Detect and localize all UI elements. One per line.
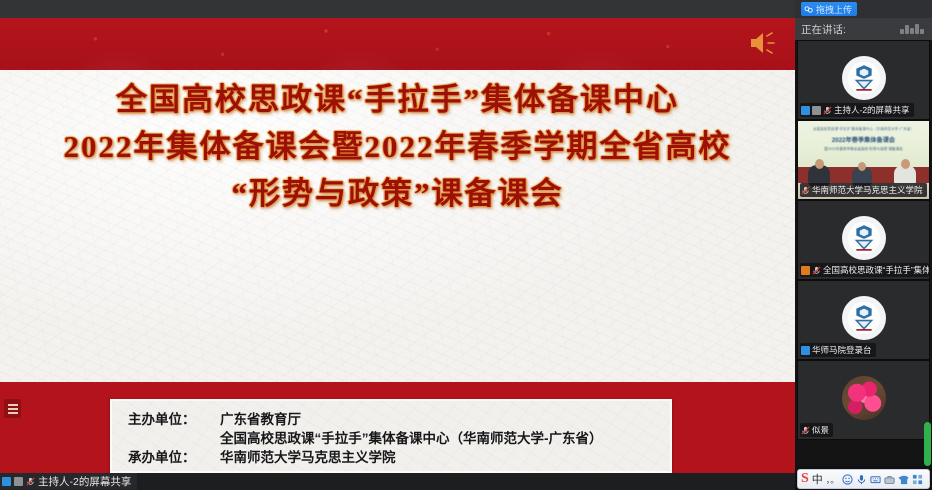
- slide-red-banner: [0, 18, 795, 70]
- avatar: [842, 376, 886, 420]
- slide-title-line-2: 2022年集体备课会暨2022年春季学期全省高校: [0, 123, 795, 170]
- slide-title-line-3: “形势与政策”课备课会: [0, 170, 795, 217]
- upload-button[interactable]: 拖拽上传: [801, 2, 857, 16]
- tile-label-text: 主持人-2的屏幕共享: [834, 104, 910, 116]
- slide-title-block: 全国高校思政课“手拉手”集体备课中心 2022年集体备课会暨2022年春季学期全…: [0, 76, 795, 217]
- mic-muted-icon: [812, 266, 821, 275]
- panel-header: 拖拽上传: [795, 0, 932, 18]
- share-status-badge: 主持人-2的屏幕共享: [0, 473, 137, 490]
- organizer-row: 承办单位： 华南师范大学马克思主义学院: [128, 448, 670, 467]
- presentation-slide: 全国高校思政课“手拉手”集体备课中心 2022年集体备课会暨2022年春季学期全…: [0, 18, 795, 473]
- screen-share-icon: [812, 106, 821, 115]
- organizer-info-box: 主办单位： 广东省教育厅 全国高校思政课“手拉手”集体备课中心（华南师范大学-广…: [110, 399, 672, 473]
- participant-tile[interactable]: 华师马院登录台: [797, 280, 930, 360]
- share-topbar: [0, 0, 795, 18]
- participant-tile[interactable]: 全国高校思政课“手拉手”集体备课中心（华南师范大学-广东省） 2022年春季集体…: [797, 120, 930, 200]
- keyboard-icon[interactable]: [870, 474, 881, 485]
- shared-screen-area[interactable]: 全国高校思政课“手拉手”集体备课中心 2022年集体备课会暨2022年春季学期全…: [0, 0, 795, 490]
- video-head-1: [815, 159, 824, 169]
- user-icon: [2, 477, 11, 486]
- school-emblem-icon: [847, 61, 881, 95]
- panel-scrollbar[interactable]: [924, 422, 931, 466]
- speaking-status-row: 正在讲话:: [795, 18, 932, 40]
- participant-tile[interactable]: 似景: [797, 360, 930, 440]
- share-badge-label: 主持人-2的屏幕共享: [38, 474, 131, 489]
- host-row: 主办单位： 广东省教育厅: [128, 410, 670, 429]
- tile-label: 似景: [800, 423, 833, 437]
- flower-photo-avatar: [842, 376, 886, 420]
- tile-label: 华师马院登录台: [800, 343, 876, 357]
- slide-title-line-1: 全国高校思政课“手拉手”集体备课中心: [0, 76, 795, 123]
- mic-muted-icon: [801, 426, 810, 435]
- host-icon: [801, 266, 810, 275]
- meeting-window: 全国高校思政课“手拉手”集体备课中心 2022年集体备课会暨2022年春季学期全…: [0, 0, 932, 490]
- tile-label: 华南师范大学马克思主义学院: [800, 183, 927, 197]
- organizer-org: 华南师范大学马克思主义学院: [220, 448, 396, 467]
- taskbar: S 中 ，。: [795, 466, 932, 490]
- user-icon: [801, 106, 810, 115]
- tile-label-text: 似景: [812, 424, 829, 436]
- toolbox-icon[interactable]: [884, 474, 895, 485]
- participant-tile[interactable]: 主持人-2的屏幕共享: [797, 40, 930, 120]
- tile-label: 主持人-2的屏幕共享: [800, 103, 914, 117]
- mic-muted-icon: [823, 106, 832, 115]
- host-org-2: 全国高校思政课“手拉手”集体备课中心（华南师范大学-广东省）: [220, 429, 603, 448]
- tile-label-text: 全国高校思政课“手拉手”集体…: [823, 264, 929, 276]
- video-head-3: [901, 159, 910, 169]
- upload-button-label: 拖拽上传: [816, 3, 852, 16]
- organizer-label: 承办单位：: [128, 448, 220, 467]
- apps-icon[interactable]: [912, 474, 923, 485]
- emoji-icon[interactable]: [842, 474, 853, 485]
- sogou-ime-toolbar[interactable]: S 中 ，。: [797, 469, 930, 489]
- school-emblem-icon: [847, 301, 881, 335]
- mic-muted-icon: [801, 186, 810, 195]
- host-row-2: 全国高校思政课“手拉手”集体备课中心（华南师范大学-广东省）: [128, 429, 670, 448]
- screen-share-icon: [14, 477, 23, 486]
- host-label: 主办单位：: [128, 410, 220, 429]
- participant-tile-list[interactable]: 主持人-2的屏幕共享 全国高校思政课“手拉手”集体备课中心（华南师范大学-广东省…: [795, 40, 932, 466]
- host-org-1: 广东省教育厅: [220, 410, 301, 429]
- tile-label-text: 华师马院登录台: [812, 344, 872, 356]
- audio-wave-icon: [900, 24, 924, 34]
- mic-input-icon[interactable]: [856, 474, 867, 485]
- participant-panel: 拖拽上传 正在讲话:: [795, 0, 932, 490]
- video-head-2: [858, 162, 866, 171]
- video-banner-line-1: 全国高校思政课“手拉手”集体备课中心（华南师范大学-广东省）: [798, 126, 929, 131]
- tile-label-text: 华南师范大学马克思主义学院: [812, 184, 923, 196]
- avatar: [842, 216, 886, 260]
- ime-punctuation-toggle[interactable]: ，。: [826, 473, 840, 486]
- avatar: [842, 56, 886, 100]
- avatar: [842, 296, 886, 340]
- mic-muted-icon: [26, 477, 35, 486]
- speaker-volume-icon: [749, 30, 777, 56]
- cloud-upload-icon: [804, 5, 813, 14]
- school-emblem-icon: [847, 221, 881, 255]
- slide-menu-icon[interactable]: [4, 399, 21, 418]
- sogou-logo-icon: S: [801, 472, 809, 486]
- participant-tile[interactable]: 全国高校思政课“手拉手”集体…: [797, 200, 930, 280]
- tile-label: 全国高校思政课“手拉手”集体…: [800, 263, 929, 277]
- video-banner-line-3: 暨2022年春季学期全省高校“形势与政策”课备课会: [798, 147, 929, 152]
- video-banner-line-2: 2022年春季集体备课会: [798, 135, 929, 144]
- skin-icon[interactable]: [898, 474, 909, 485]
- speaking-label: 正在讲话:: [801, 22, 846, 37]
- ime-mode-toggle[interactable]: 中: [812, 471, 823, 487]
- user-icon: [801, 346, 810, 355]
